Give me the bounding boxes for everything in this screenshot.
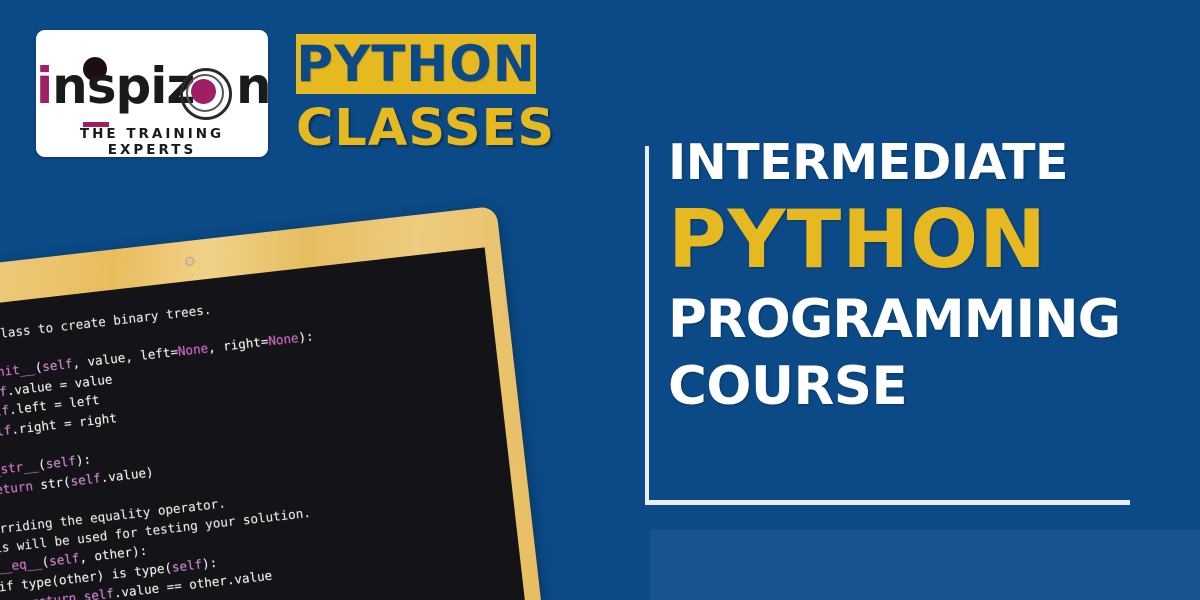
hero-line-intermediate: INTERMEDIATE xyxy=(668,132,1188,194)
laptop-bezel: # Use this class to create binary trees.… xyxy=(0,206,544,600)
logo-tagline: THE TRAINING EXPERTS xyxy=(36,126,268,157)
logo-letter-i: i xyxy=(36,57,52,115)
badge-classes-label: CLASSES xyxy=(296,100,536,158)
decorative-panel xyxy=(650,530,1200,600)
hero-line-course: COURSE xyxy=(668,354,1188,420)
laptop-illustration: # Use this class to create binary trees.… xyxy=(0,204,563,600)
bracket-horizontal-rule xyxy=(645,500,1130,505)
badge-python-label: PYTHON xyxy=(296,34,536,94)
logo-o-dot-icon xyxy=(191,79,216,104)
hero-line-python: PYTHON xyxy=(668,194,1188,286)
promo-banner: inspizOne THE TRAINING EXPERTS PYTHON CL… xyxy=(0,0,1200,600)
code-editor-content: # Use this class to create binary trees.… xyxy=(0,288,343,600)
logo-wordmark: inspizOne xyxy=(36,50,268,122)
logo-letters-nspiz: nspiz xyxy=(52,57,194,115)
python-classes-badge: PYTHON CLASSES xyxy=(296,34,536,158)
laptop-screen: # Use this class to create binary trees.… xyxy=(0,247,528,600)
webcam-icon xyxy=(185,256,195,266)
bracket-vertical-rule xyxy=(645,146,649,504)
logo-letters-ne: ne xyxy=(236,57,268,115)
inspizone-logo-card: inspizOne THE TRAINING EXPERTS xyxy=(36,30,268,157)
hero-headline: INTERMEDIATE PYTHON PROGRAMMING COURSE xyxy=(668,132,1188,420)
hero-line-programming: PROGRAMMING xyxy=(668,286,1188,354)
